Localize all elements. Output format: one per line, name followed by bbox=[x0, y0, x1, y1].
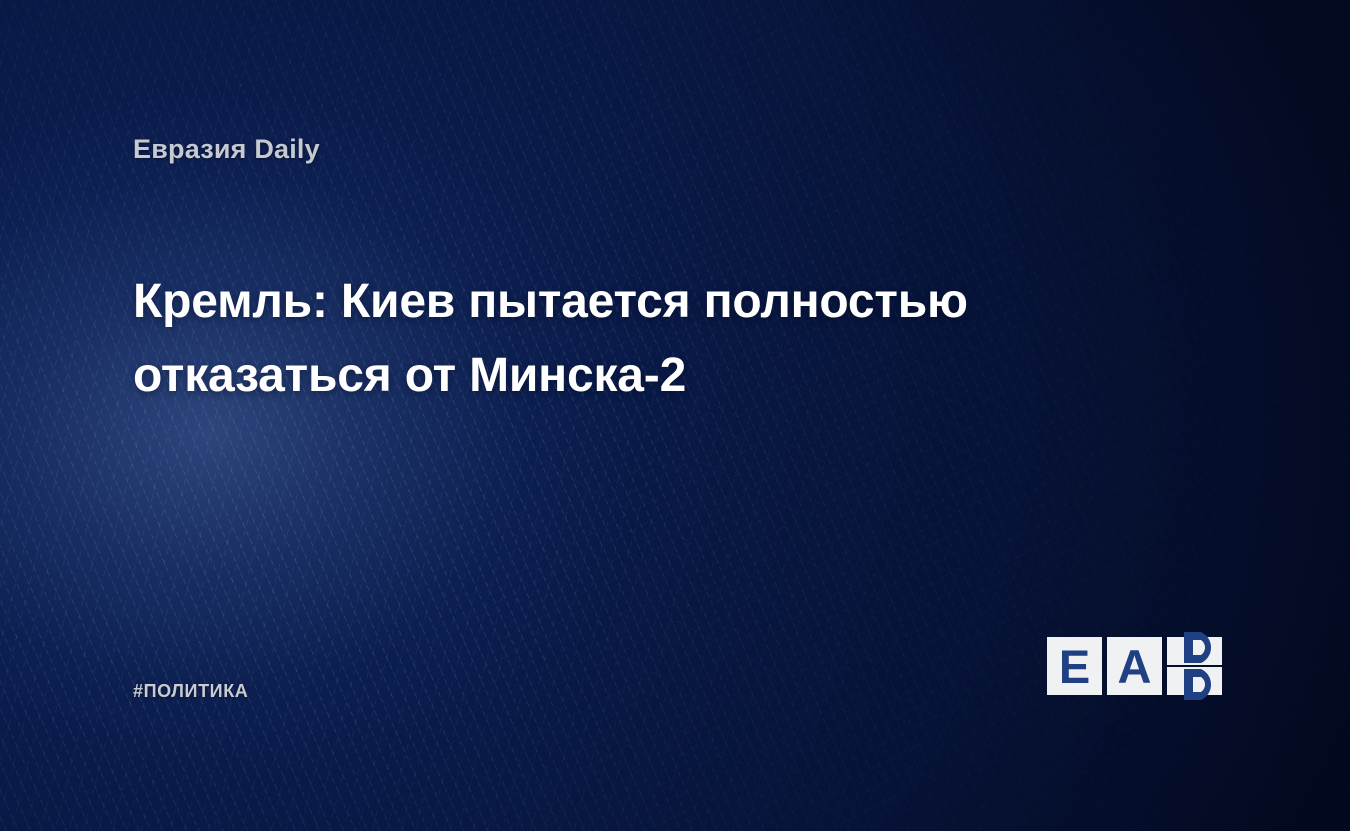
card-content: Евразия Daily Кремль: Киев пытается полн… bbox=[0, 0, 1350, 831]
logo-letter-e: E bbox=[1059, 643, 1090, 690]
headline-line-2: отказаться от Минска-2 bbox=[133, 339, 1133, 413]
page-title: Кремль: Киев пытается полностью отказать… bbox=[133, 265, 1133, 413]
eadaily-logo[interactable]: E A bbox=[1047, 637, 1222, 695]
logo-tile-d bbox=[1167, 637, 1222, 695]
category-tag[interactable]: #ПОЛИТИКА bbox=[133, 681, 248, 702]
logo-tile-a: A bbox=[1107, 637, 1162, 695]
social-share-card: Евразия Daily Кремль: Киев пытается полн… bbox=[0, 0, 1350, 831]
headline-line-1: Кремль: Киев пытается полностью bbox=[133, 265, 1133, 339]
logo-tile-e: E bbox=[1047, 637, 1102, 695]
site-name: Евразия Daily bbox=[133, 134, 320, 165]
logo-letter-d-icon bbox=[1167, 637, 1222, 695]
logo-letter-a: A bbox=[1118, 643, 1152, 690]
